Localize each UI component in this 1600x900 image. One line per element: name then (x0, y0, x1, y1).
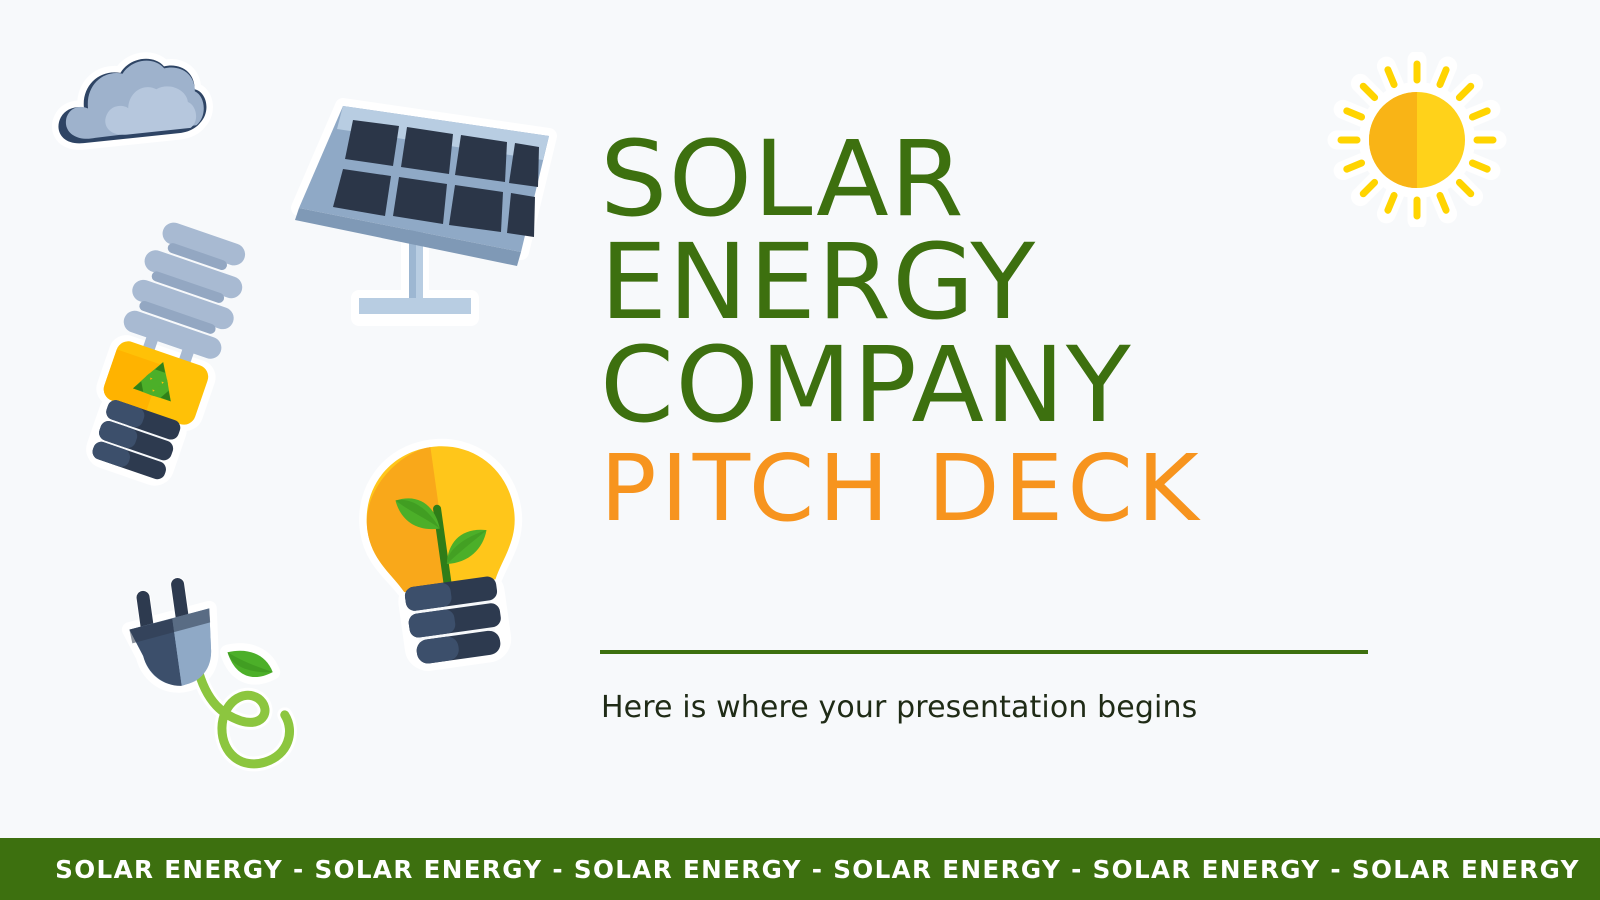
cfl-recycle-bulb-icon (72, 218, 262, 490)
slide-title: SOLAR ENERGY COMPANY PITCH DECK (600, 128, 1390, 534)
presentation-slide: SOLAR ENERGY COMPANY PITCH DECK Here is … (0, 0, 1600, 900)
footer-marquee-band: SOLAR ENERGY - SOLAR ENERGY - SOLAR ENER… (0, 838, 1600, 900)
eco-idea-bulb-icon (356, 432, 536, 684)
footer-marquee-text: SOLAR ENERGY - SOLAR ENERGY - SOLAR ENER… (0, 855, 1580, 884)
solar-panel-icon (281, 92, 561, 330)
eco-plug-icon (106, 546, 326, 796)
title-line-2: ENERGY (600, 231, 1406, 334)
title-accent-line: PITCH DECK (600, 437, 1406, 534)
slide-subtitle: Here is where your presentation begins (601, 690, 1197, 725)
title-divider (600, 650, 1368, 654)
cloud-icon (46, 46, 216, 166)
title-line-1: SOLAR (600, 128, 1406, 231)
title-line-3: COMPANY (600, 334, 1406, 437)
